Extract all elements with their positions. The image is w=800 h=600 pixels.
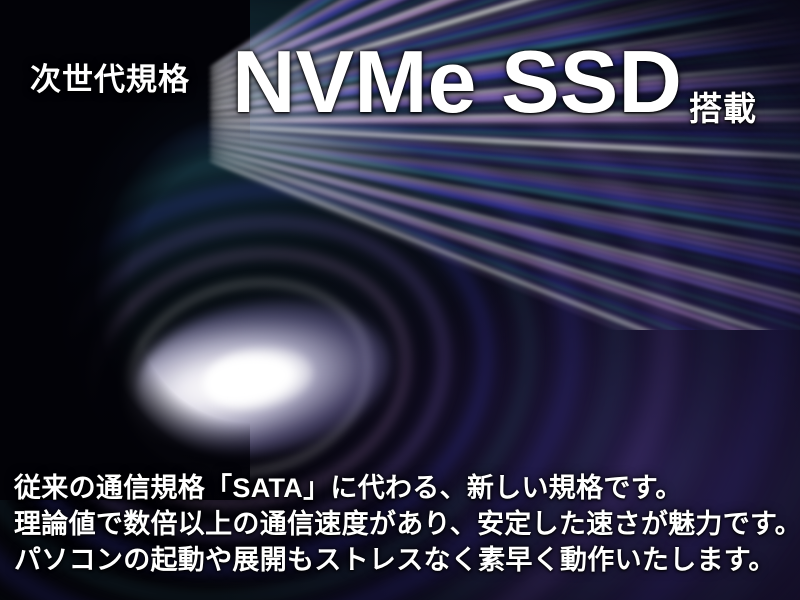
light-streak	[210, 135, 800, 234]
page-title: NVMe SSD	[232, 38, 682, 126]
light-streak	[210, 135, 800, 244]
light-streak	[209, 158, 800, 330]
light-streak	[210, 141, 800, 308]
light-streak	[210, 130, 800, 195]
tunnel-ring	[106, 256, 391, 500]
light-streak	[210, 136, 800, 265]
core-glow-icon	[120, 282, 402, 475]
caption-line: 従来の通信規格「SATA」に代わる、新しい規格です。	[14, 470, 794, 506]
nvme-ssd-banner: 次世代規格 NVMe SSD 搭載 従来の通信規格「SATA」に代わる、新しい規…	[0, 0, 800, 600]
light-streak	[210, 129, 800, 175]
kicker-left-label: 次世代規格	[30, 54, 190, 99]
light-streak	[210, 147, 800, 330]
light-streak	[209, 147, 800, 330]
light-streak	[210, 135, 800, 224]
light-streak	[210, 146, 800, 330]
caption-block: 従来の通信規格「SATA」に代わる、新しい規格です。 理論値で数倍以上の通信速度…	[14, 470, 794, 578]
light-streak	[210, 141, 800, 287]
light-streak	[210, 141, 800, 319]
light-streak	[210, 140, 800, 275]
light-streak	[210, 157, 800, 330]
light-streak	[210, 130, 800, 204]
light-streak	[209, 153, 800, 330]
light-streak	[210, 146, 800, 330]
light-streak	[210, 152, 800, 330]
core-hotspot-icon	[200, 340, 318, 417]
light-streak	[210, 152, 800, 330]
kicker-right-label: 搭載	[689, 82, 757, 130]
light-streak	[210, 129, 800, 184]
light-streak	[210, 147, 800, 330]
light-streak	[209, 153, 800, 330]
light-streak	[210, 141, 800, 297]
light-streak	[209, 158, 800, 330]
light-streak	[210, 163, 800, 330]
light-streak	[210, 158, 800, 330]
light-streak	[210, 158, 800, 330]
light-streak	[210, 152, 800, 330]
light-streak	[210, 130, 800, 214]
light-streak	[210, 135, 800, 254]
caption-line: 理論値で数倍以上の通信速度があり、安定した速さが魅力です。	[14, 506, 794, 542]
caption-line: パソコンの起動や展開もストレスなく素早く動作いたします。	[14, 542, 794, 578]
